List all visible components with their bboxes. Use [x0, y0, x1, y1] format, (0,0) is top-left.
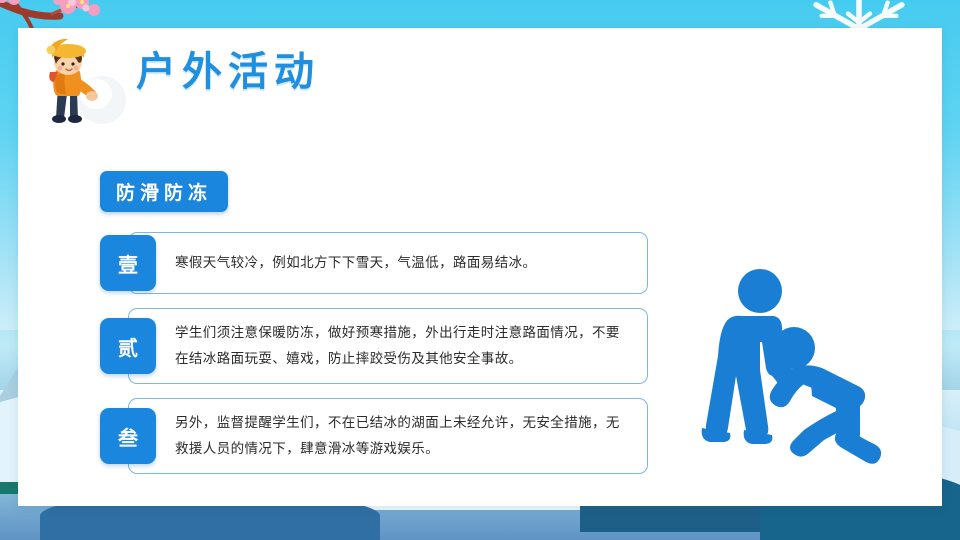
- child-pushing-snowball-icon: [36, 38, 128, 126]
- list-item: 学生们须注意保暖防冻，做好预寒措施，外出行走时注意路面情况，不要在结冰路面玩耍、…: [100, 308, 648, 384]
- list-item-number-badge: 壹: [100, 235, 156, 291]
- list-item-box: 另外，监督提醒学生们，不在已结冰的湖面上未经允许，无安全措施，无救援人员的情况下…: [128, 398, 648, 474]
- slide-root: 户外活动 防滑防冻 寒假天气较冷，例如北方下下雪天，气温低，路面易结冰。 壹 学…: [0, 0, 960, 540]
- page-title: 户外活动: [136, 52, 320, 92]
- list-item-box: 寒假天气较冷，例如北方下下雪天，气温低，路面易结冰。: [128, 232, 648, 294]
- list-item-number-badge: 贰: [100, 318, 156, 374]
- list-item-text: 另外，监督提醒学生们，不在已结冰的湖面上未经允许，无安全措施，无救援人员的情况下…: [175, 410, 631, 463]
- list-item-text: 寒假天气较冷，例如北方下下雪天，气温低，路面易结冰。: [175, 250, 536, 276]
- list-item: 寒假天气较冷，例如北方下下雪天，气温低，路面易结冰。 壹: [100, 232, 648, 294]
- person-helping-fallen-person-icon: [672, 258, 890, 476]
- section-badge: 防滑防冻: [100, 171, 228, 212]
- item-list: 寒假天气较冷，例如北方下下雪天，气温低，路面易结冰。 壹 学生们须注意保暖防冻，…: [100, 232, 648, 488]
- list-item-text: 学生们须注意保暖防冻，做好预寒措施，外出行走时注意路面情况，不要在结冰路面玩耍、…: [175, 320, 631, 373]
- list-item: 另外，监督提醒学生们，不在已结冰的湖面上未经允许，无安全措施，无救援人员的情况下…: [100, 398, 648, 474]
- list-item-number-badge: 叁: [100, 408, 156, 464]
- list-item-box: 学生们须注意保暖防冻，做好预寒措施，外出行走时注意路面情况，不要在结冰路面玩耍、…: [128, 308, 648, 384]
